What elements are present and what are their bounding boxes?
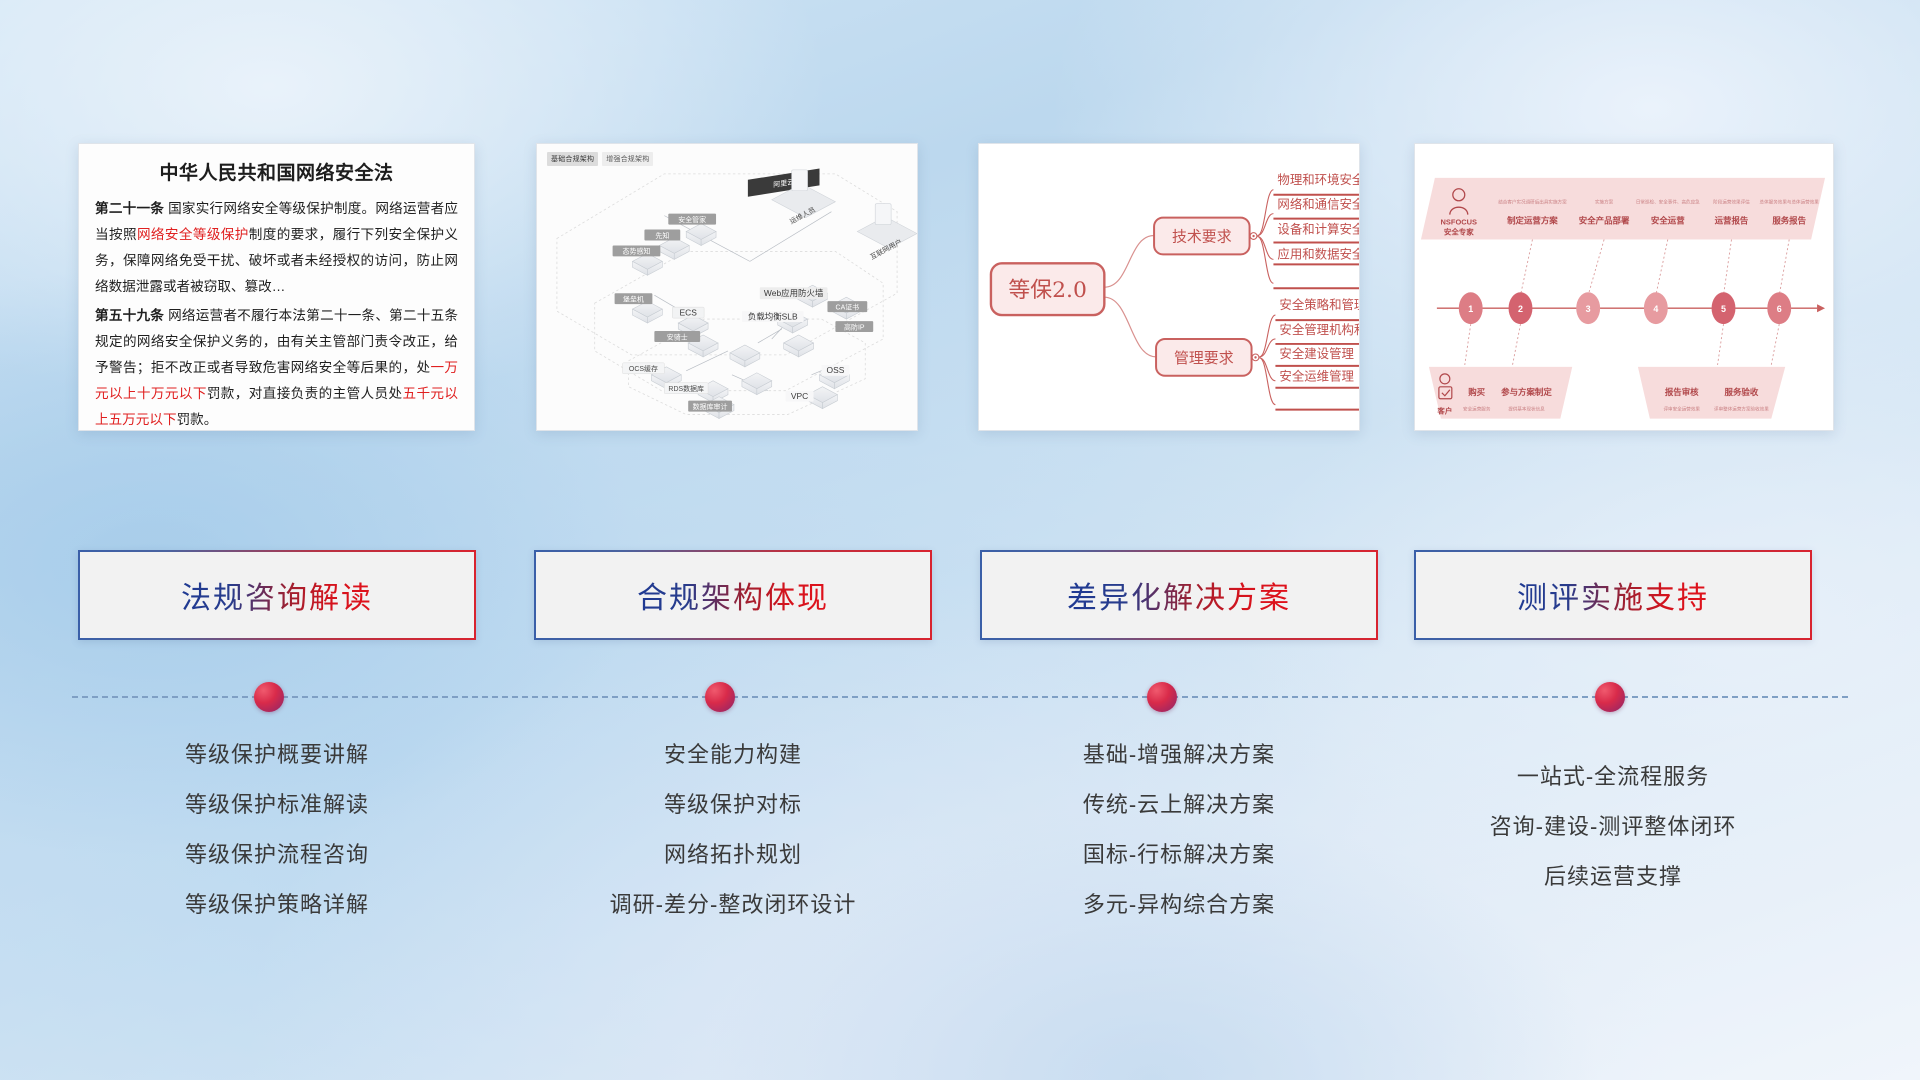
article-59-text-c: 罚款。 [177, 412, 218, 427]
top-step-1-note: 结合客户实况调研后出具实施方案 [1498, 199, 1567, 206]
detail-column-1: 等级保护概要讲解 等级保护标准解读 等级保护流程咨询 等级保护策略详解 [78, 730, 476, 930]
list-item: 调研-差分-整改闭环设计 [534, 880, 932, 930]
mindmap-leaf-network-comm: 网络和通信安全 [1277, 197, 1359, 212]
article-21-label: 第二十一条 [95, 201, 164, 216]
bottom-left-step-1-title: 购买 [1468, 387, 1485, 397]
node-label-anti-ddos-ip: 高防IP [844, 322, 865, 331]
mindmap-leaf-device-compute: 设备和计算安全 [1277, 222, 1359, 237]
list-item: 网络拓扑规划 [534, 830, 932, 880]
timeline-dot-3[interactable] [1147, 682, 1177, 712]
top-step-1-title: 制定运营方案 [1507, 216, 1558, 226]
article-21-highlight: 网络安全等级保护 [137, 227, 249, 242]
expert-band [1421, 178, 1825, 240]
brand-subtitle: 安全专家 [1444, 227, 1474, 237]
mindmap-branch-technical[interactable]: 技术要求 [1154, 218, 1257, 255]
customer-label: 客户 [1436, 406, 1452, 416]
headline-button-compliance-architecture-label: 合规架构体现 [637, 573, 829, 617]
node-label-rds-db: RDS数据库 [668, 384, 704, 393]
card-dengbao-mindmap[interactable]: 等保2.0 技术要求 [978, 143, 1360, 431]
detail-column-3: 基础-增强解决方案 传统-云上解决方案 国标-行标解决方案 多元-异构综合方案 [980, 730, 1378, 930]
progress-timeline [0, 660, 1920, 720]
node-label-security-steward: 安全管家 [678, 215, 706, 224]
top-step-5-title: 服务报告 [1772, 216, 1806, 226]
list-item: 等级保护标准解读 [78, 780, 476, 830]
list-item: 等级保护概要讲解 [78, 730, 476, 780]
node-label-vpc: VPC [791, 391, 808, 401]
timeline-node-4: 4 [1653, 304, 1658, 314]
mindmap-leaf-construction-mgmt: 安全建设管理 [1279, 346, 1354, 361]
architecture-svg: 阿里云 [537, 144, 917, 430]
list-item: 等级保护策略详解 [78, 880, 476, 930]
headline-button-evaluation-support-label: 测评实施支持 [1517, 573, 1709, 617]
node-label-ca-cert: CA证书 [836, 302, 860, 311]
card-row: 中华人民共和国网络安全法 第二十一条 国家实行网络安全等级保护制度。网络运营者应… [0, 143, 1920, 443]
node-label-ecs: ECS [680, 307, 698, 317]
list-item: 咨询-建设-测评整体闭环 [1414, 802, 1812, 852]
timeline-dashed-line [72, 696, 1848, 698]
list-item: 等级保护流程咨询 [78, 830, 476, 880]
headline-button-differentiated-solution-label: 差异化解决方案 [1067, 573, 1291, 617]
headline-button-regulation-consulting-label: 法规咨询解读 [181, 573, 373, 617]
card-compliance-architecture[interactable]: 基础合规架构 增强合规架构 [536, 143, 918, 431]
mindmap-leaf-org-personnel: 安全管理机构和人员 [1279, 322, 1359, 337]
mindmap-svg: 等保2.0 技术要求 [979, 144, 1359, 430]
law-article-59: 第五十九条 网络运营者不履行本法第二十一条、第二十五条规定的网络安全保护义务的，… [95, 303, 458, 431]
list-item: 一站式-全流程服务 [1414, 752, 1812, 802]
headline-button-regulation-consulting[interactable]: 法规咨询解读 [78, 550, 476, 640]
law-title: 中华人民共和国网络安全法 [95, 158, 458, 185]
mindmap-root-label: 等保2.0 [1008, 278, 1087, 303]
mindmap-branch-management-label: 管理要求 [1174, 349, 1234, 367]
node-label-slb: 负载均衡SLB [748, 311, 798, 321]
architecture-diagram: 基础合规架构 增强合规架构 [537, 144, 917, 430]
article-59-label: 第五十九条 [95, 308, 164, 323]
bottom-right-step-1-title: 报告审核 [1665, 387, 1699, 397]
top-step-3-title: 安全运营 [1651, 216, 1685, 226]
list-item: 国标-行标解决方案 [980, 830, 1378, 880]
node-label-db-audit: 数据库审计 [693, 402, 728, 411]
headline-button-compliance-architecture[interactable]: 合规架构体现 [534, 550, 932, 640]
headline-button-row: 法规咨询解读 合规架构体现 差异化解决方案 测评实施支持 [0, 550, 1920, 646]
node-label-anqishi: 安骑士 [667, 332, 688, 341]
list-item: 传统-云上解决方案 [980, 780, 1378, 830]
timeline-node-6: 6 [1777, 304, 1782, 314]
timeline-node-1: 1 [1468, 304, 1473, 314]
mindmap-leaf-policy-system: 安全策略和管理制度 [1279, 297, 1359, 312]
timeline-node-2: 2 [1518, 304, 1523, 314]
top-step-2-title: 安全产品部署 [1579, 216, 1630, 226]
nsfocus-flow-svg: NSFOCUS 安全专家 结合客户实况调研后出具实施方案 制定运营方案 实施方案… [1415, 144, 1833, 431]
law-text-block: 中华人民共和国网络安全法 第二十一条 国家实行网络安全等级保护制度。网络运营者应… [79, 144, 474, 431]
headline-button-evaluation-support[interactable]: 测评实施支持 [1414, 550, 1812, 640]
detail-column-2: 安全能力构建 等级保护对标 网络拓扑规划 调研-差分-整改闭环设计 [534, 730, 932, 930]
timeline-dot-4[interactable] [1595, 682, 1625, 712]
brand-name: NSFOCUS [1441, 218, 1477, 227]
headline-button-differentiated-solution[interactable]: 差异化解决方案 [980, 550, 1378, 640]
timeline-arrow-icon [1817, 304, 1825, 312]
mindmap-leaf-app-data: 应用和数据安全 [1277, 246, 1359, 261]
bottom-right-step-1-note: 评审安全运营效果 [1663, 406, 1700, 413]
node-label-bastion-host: 堡垒机 [623, 294, 644, 303]
node-label-oss: OSS [827, 365, 845, 375]
mindmap-leaf-ops-mgmt: 安全运维管理 [1279, 369, 1354, 384]
card-cybersecurity-law[interactable]: 中华人民共和国网络安全法 第二十一条 国家实行网络安全等级保护制度。网络运营者应… [78, 143, 475, 431]
bottom-right-step-2-title: 服务验收 [1725, 387, 1759, 397]
node-label-situational-awareness: 态势感知 [623, 247, 651, 256]
detail-list-row: 等级保护概要讲解 等级保护标准解读 等级保护流程咨询 等级保护策略详解 安全能力… [0, 730, 1920, 930]
top-step-2-note: 实施方案 [1595, 199, 1614, 206]
list-item: 后续运营支撑 [1414, 852, 1812, 902]
mindmap-branch-technical-label: 技术要求 [1172, 227, 1232, 245]
list-item: 安全能力构建 [534, 730, 932, 780]
timeline-dot-2[interactable] [705, 682, 735, 712]
timeline-node-3: 3 [1586, 304, 1591, 314]
bottom-left-step-2-note: 提供基本现状信息 [1508, 406, 1545, 413]
node-label-xianzhi: 先知 [655, 231, 669, 240]
card-nsfocus-service-flow[interactable]: NSFOCUS 安全专家 结合客户实况调研后出具实施方案 制定运营方案 实施方案… [1414, 143, 1834, 431]
detail-column-4: 一站式-全流程服务 咨询-建设-测评整体闭环 后续运营支撑 [1414, 730, 1812, 902]
article-59-text-b: 罚款，对直接负责的主管人员处 [207, 386, 403, 401]
nsfocus-flow: NSFOCUS 安全专家 结合客户实况调研后出具实施方案 制定运营方案 实施方案… [1415, 144, 1833, 430]
mindmap-leaf-physical-env: 物理和环境安全 [1277, 172, 1359, 187]
mindmap-branch-management[interactable]: 管理要求 [1156, 339, 1259, 376]
top-step-4-note: 阶段运营效果评估 [1713, 199, 1750, 206]
bottom-right-step-2-note: 评审整体运营方案验收效果 [1714, 406, 1769, 413]
bottom-left-step-2-title: 参与方案制定 [1501, 387, 1552, 397]
list-item: 基础-增强解决方案 [980, 730, 1378, 780]
list-item: 多元-异构综合方案 [980, 880, 1378, 930]
list-item: 等级保护对标 [534, 780, 932, 830]
law-article-21: 第二十一条 国家实行网络安全等级保护制度。网络运营者应当按照网络安全等级保护制度… [95, 196, 458, 300]
top-step-5-note: 总体服务效果与总体运营效果 [1760, 199, 1820, 206]
node-label-waf: Web应用防火墙 [764, 288, 824, 298]
timeline-node-5: 5 [1721, 304, 1726, 314]
mindmap: 等保2.0 技术要求 [979, 144, 1359, 430]
node-label-ocs-cache: OCS缓存 [629, 364, 658, 373]
bottom-left-step-1-note: 安全运营服务 [1463, 406, 1491, 413]
mindmap-root-node[interactable]: 等保2.0 [991, 263, 1104, 315]
top-step-3-note: 日常巡检、安全事件、高危应急 [1636, 199, 1700, 206]
timeline-dot-1[interactable] [254, 682, 284, 712]
top-step-4-title: 运营报告 [1715, 216, 1749, 226]
